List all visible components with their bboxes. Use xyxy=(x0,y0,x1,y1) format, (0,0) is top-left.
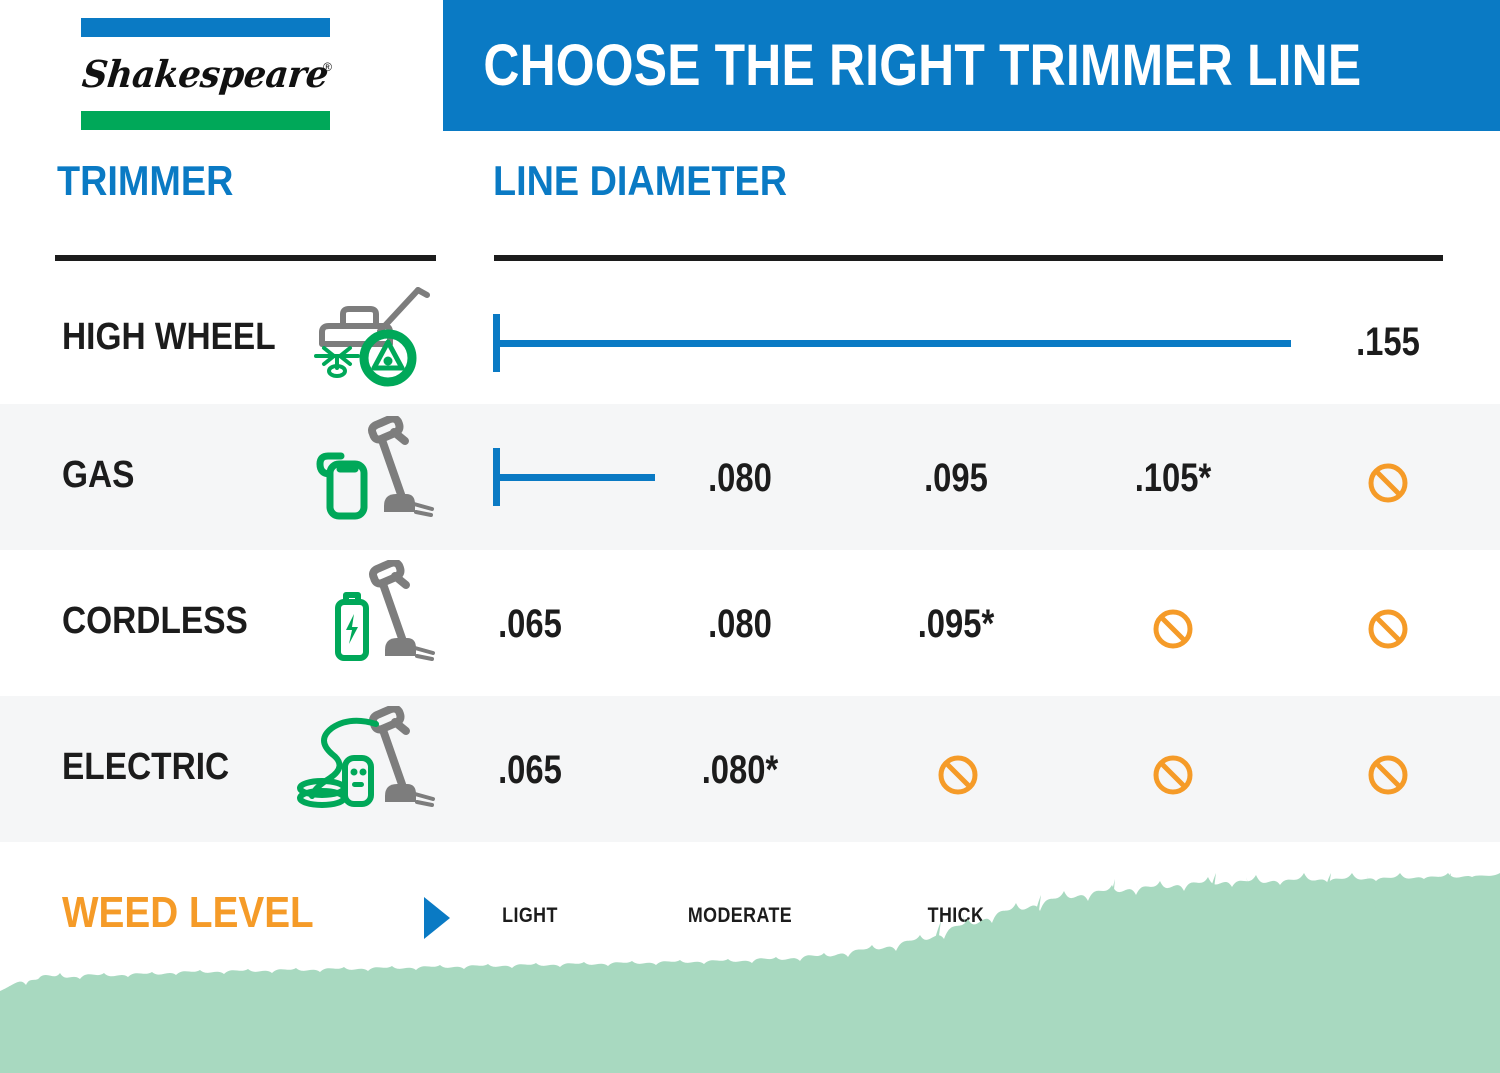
page-title: CHOOSE THE RIGHT TRIMMER LINE xyxy=(443,37,1361,95)
divider-left xyxy=(55,255,436,261)
not-recommended-icon xyxy=(936,753,980,797)
gas-trimmer-icon xyxy=(310,416,435,533)
value-cordless-thick: .095* xyxy=(874,602,1038,647)
logo-bottom-bar xyxy=(81,111,330,130)
column-heading-trimmer: TRIMMER xyxy=(57,160,233,202)
high-wheel-trimmer-icon xyxy=(310,286,430,396)
infographic-canvas: Shakespeare ® CHOOSE THE RIGHT TRIMMER L… xyxy=(0,0,1500,1073)
value-high-wheel-very-heavy: .155 xyxy=(1306,320,1470,365)
value-electric-light: .065 xyxy=(448,748,612,793)
electric-trimmer-icon xyxy=(288,706,438,823)
measure-bar-line xyxy=(493,474,655,481)
table-row-high-wheel: HIGH WHEEL xyxy=(0,272,1500,404)
divider-right xyxy=(494,255,1443,261)
logo-wordmark-text: Shakespeare xyxy=(80,52,330,96)
table-row-gas: GAS xyxy=(0,404,1500,550)
logo-wordmark: Shakespeare ® xyxy=(81,38,330,110)
value-cordless-moderate: .080 xyxy=(658,602,822,647)
row-label-electric: ELECTRIC xyxy=(62,746,229,789)
not-recommended-icon xyxy=(1151,753,1195,797)
row-label-high-wheel: HIGH WHEEL xyxy=(62,316,276,359)
cordless-trimmer-icon xyxy=(320,560,435,677)
value-cordless-light: .065 xyxy=(448,602,612,647)
value-gas-heavy: .105* xyxy=(1091,456,1255,501)
measure-bar-line xyxy=(493,340,1291,347)
value-electric-moderate: .080* xyxy=(658,748,822,793)
value-gas-moderate: .080 xyxy=(658,456,822,501)
grass-silhouette xyxy=(0,873,1500,1073)
logo-top-bar xyxy=(81,18,330,37)
brand-logo: Shakespeare ® xyxy=(81,18,330,130)
value-gas-thick: .095 xyxy=(874,456,1038,501)
table-row-cordless: CORDLESS .065 .08 xyxy=(0,550,1500,696)
column-heading-line-diameter: LINE DIAMETER xyxy=(493,160,787,202)
not-recommended-icon xyxy=(1366,461,1410,505)
header-banner: CHOOSE THE RIGHT TRIMMER LINE xyxy=(443,0,1500,131)
table-row-electric: ELECTRIC xyxy=(0,696,1500,842)
row-label-cordless: CORDLESS xyxy=(62,600,248,643)
not-recommended-icon xyxy=(1366,753,1410,797)
row-label-gas: GAS xyxy=(62,454,134,497)
not-recommended-icon xyxy=(1366,607,1410,651)
not-recommended-icon xyxy=(1151,607,1195,651)
registered-trademark-icon: ® xyxy=(323,60,332,74)
